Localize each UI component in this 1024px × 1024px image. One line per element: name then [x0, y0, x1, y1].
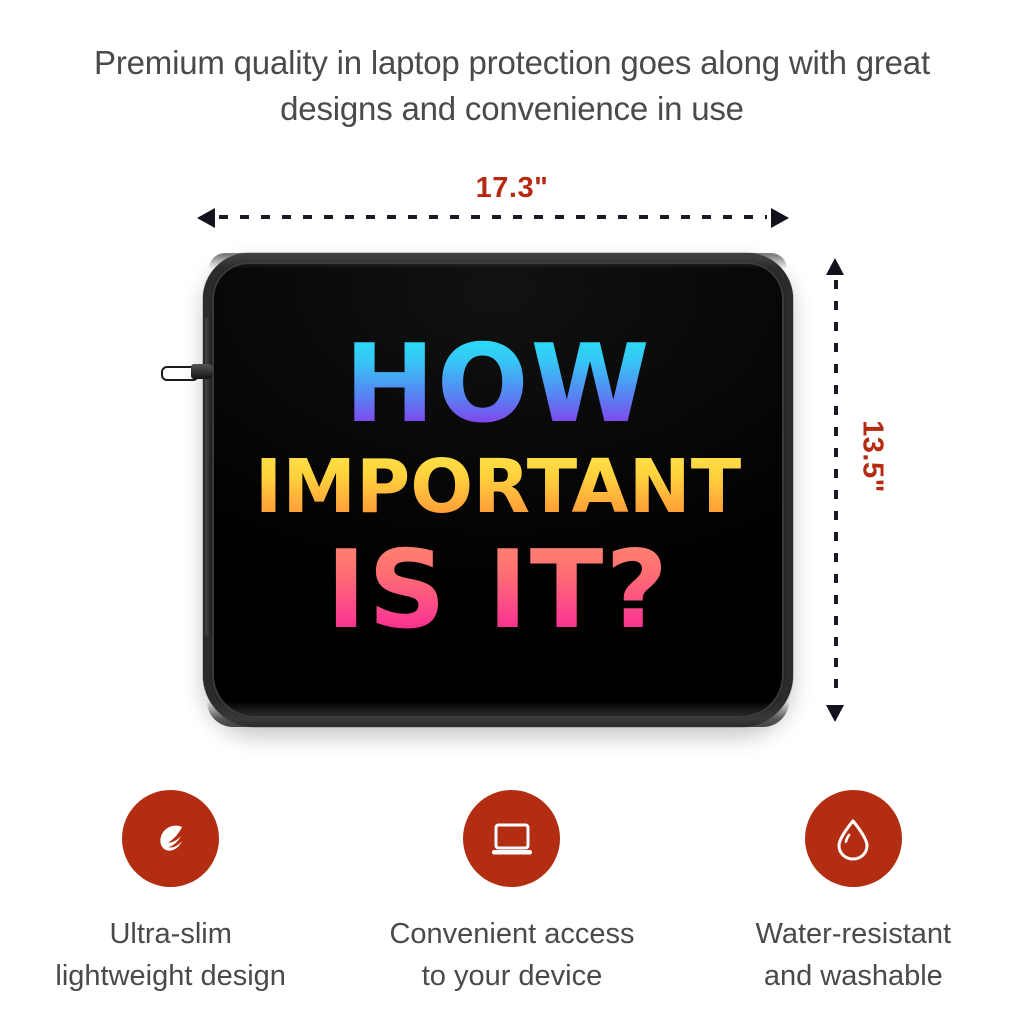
- headline-line-1: Premium quality in laptop protection goe…: [0, 40, 1024, 86]
- sleeve-edge-bottom: [207, 701, 789, 727]
- feature-item-lightweight: Ultra-slim lightweight design: [0, 790, 341, 997]
- arrow-left-icon: [197, 208, 215, 228]
- feature-caption-line-1: Water-resistant: [756, 913, 952, 955]
- sleeve-edge-binding: [203, 253, 793, 727]
- feature-caption-line-1: Ultra-slim: [55, 913, 286, 955]
- feature-list: Ultra-slim lightweight design Convenient…: [0, 790, 1024, 997]
- feature-caption: Convenient access to your device: [389, 913, 634, 997]
- feature-caption-line-1: Convenient access: [389, 913, 634, 955]
- water-drop-icon: [805, 790, 902, 887]
- feature-item-access: Convenient access to your device: [341, 790, 682, 997]
- dashed-line: [834, 280, 838, 700]
- width-dimension-label: 17.3": [0, 172, 1024, 205]
- feature-caption: Water-resistant and washable: [756, 913, 952, 997]
- feature-caption: Ultra-slim lightweight design: [55, 913, 286, 997]
- feature-caption-line-2: lightweight design: [55, 955, 286, 997]
- feature-caption-line-2: and washable: [756, 955, 952, 997]
- zipper-slider: [191, 364, 213, 379]
- dashed-line: [219, 215, 767, 219]
- feature-caption-line-2: to your device: [389, 955, 634, 997]
- feature-item-water-resistant: Water-resistant and washable: [683, 790, 1024, 997]
- feather-icon: [122, 790, 219, 887]
- arrow-right-icon: [771, 208, 789, 228]
- arrow-down-icon: [826, 705, 844, 722]
- height-dimension-line: [831, 258, 839, 722]
- height-dimension-label: 13.5": [856, 397, 889, 517]
- laptop-sleeve: HOW IMPORTANT IS IT?: [203, 253, 793, 727]
- width-dimension-line: [197, 212, 789, 220]
- headline-line-2: designs and convenience in use: [0, 86, 1024, 132]
- zipper-pull[interactable]: [161, 363, 213, 380]
- arrow-up-icon: [826, 258, 844, 275]
- sleeve-edge-top: [209, 253, 787, 269]
- laptop-icon: [463, 790, 560, 887]
- headline: Premium quality in laptop protection goe…: [0, 40, 1024, 132]
